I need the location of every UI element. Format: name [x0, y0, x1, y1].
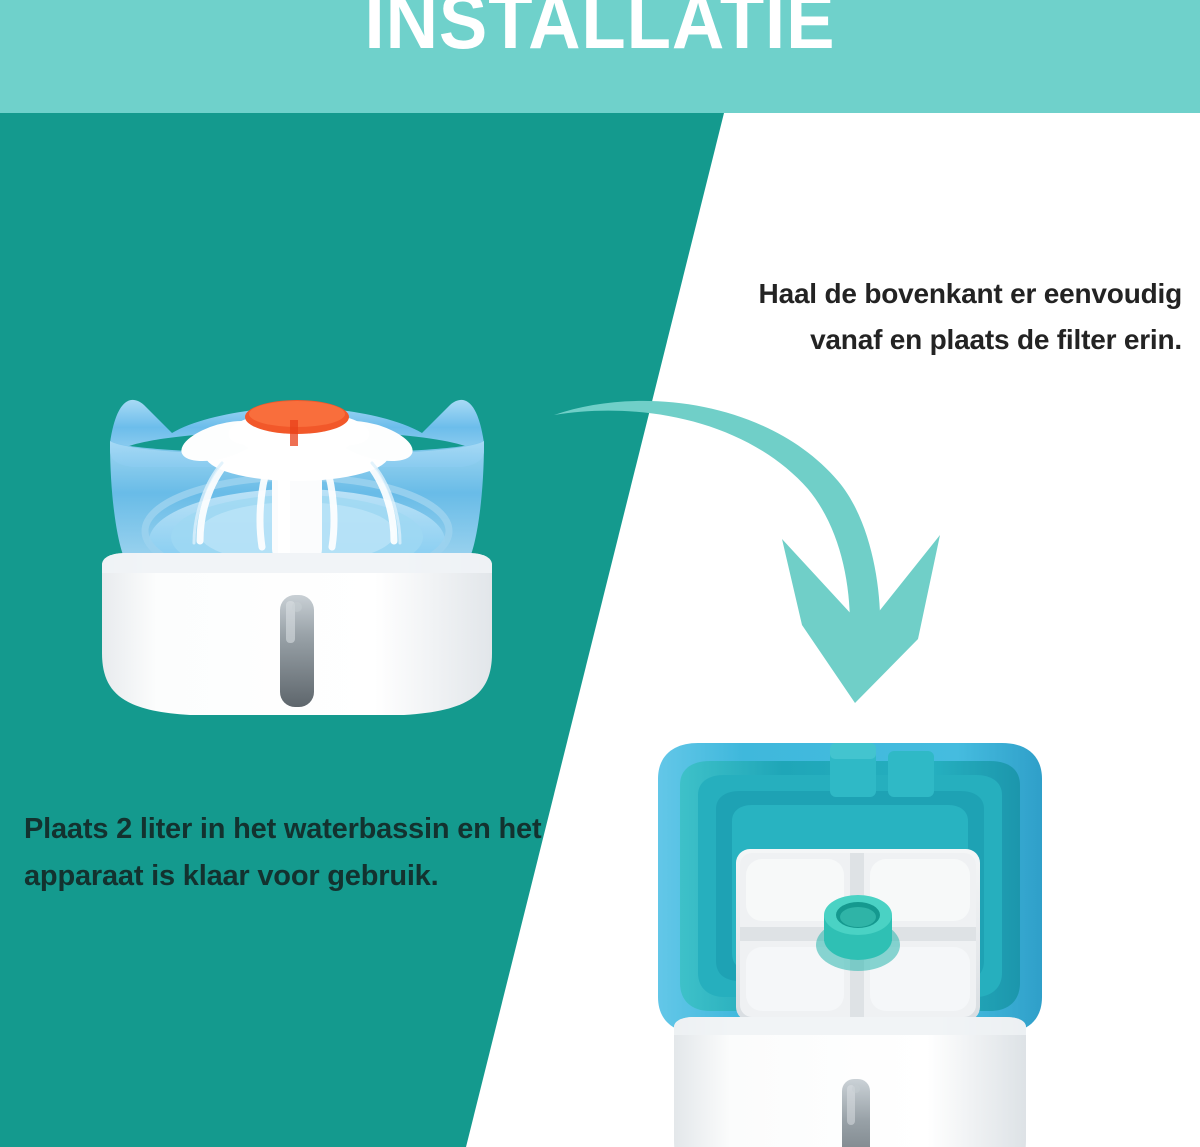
curved-down-arrow-icon	[520, 363, 980, 723]
product-image-assembled-fountain	[72, 265, 522, 725]
header-banner: INSTALLATIE	[0, 0, 1200, 113]
page-title: INSTALLATIE	[42, 0, 1158, 60]
left-caption: Plaats 2 liter in het waterbassin en het…	[24, 806, 564, 900]
content-area: Plaats 2 liter in het waterbassin en het…	[0, 113, 1200, 1147]
right-caption: Haal de bovenkant er eenvoudig vanaf en …	[752, 271, 1182, 364]
installation-infographic: INSTALLATIE	[0, 0, 1200, 1147]
product-image-filter-basin	[640, 721, 1060, 1147]
